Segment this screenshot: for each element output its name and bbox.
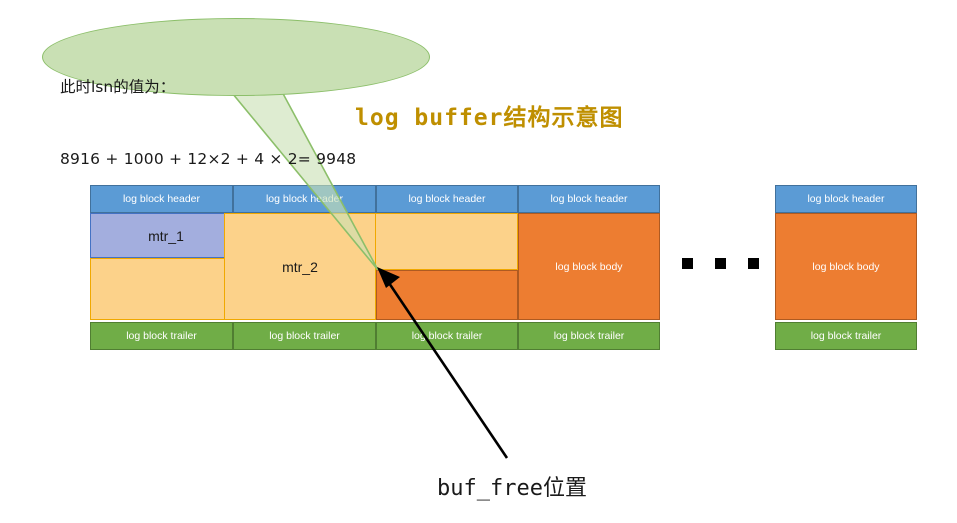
callout-line-2: 8916 + 1000 + 12×2 + 4 × 2= 9948 [60, 147, 430, 171]
log-block-trailer-3: log block trailer [376, 322, 518, 350]
diagram-canvas: 此时lsn的值为： 8916 + 1000 + 12×2 + 4 × 2= 99… [0, 0, 957, 523]
log-block-last: log block header log block body log bloc… [775, 185, 917, 350]
ellipsis-dot-2 [715, 258, 726, 269]
ellipsis-dot-1 [682, 258, 693, 269]
log-block-body-1-free [90, 258, 242, 320]
log-block-4: log block header log block body log bloc… [518, 185, 660, 350]
log-block-trailer-1: log block trailer [90, 322, 233, 350]
buf-free-label: buf_free位置 [437, 470, 587, 502]
log-block-trailer-2: log block trailer [233, 322, 376, 350]
callout-line-1: 此时lsn的值为： [60, 75, 430, 99]
mtr2-region: mtr_2 [224, 213, 376, 320]
log-block-header-last: log block header [775, 185, 917, 213]
ellipsis-dot-3 [748, 258, 759, 269]
lsn-callout-text: 此时lsn的值为： 8916 + 1000 + 12×2 + 4 × 2= 99… [60, 27, 430, 219]
mtr1-region: mtr_1 [90, 213, 242, 258]
mtr2-region-continued [375, 213, 518, 270]
log-block-body-last: log block body [775, 213, 917, 320]
ellipsis-dots [682, 258, 759, 269]
log-block-trailer-4: log block trailer [518, 322, 660, 350]
log-block-body-3 [376, 270, 518, 320]
log-block-body-4: log block body [518, 213, 660, 320]
log-block-header-4: log block header [518, 185, 660, 213]
log-block-trailer-last: log block trailer [775, 322, 917, 350]
